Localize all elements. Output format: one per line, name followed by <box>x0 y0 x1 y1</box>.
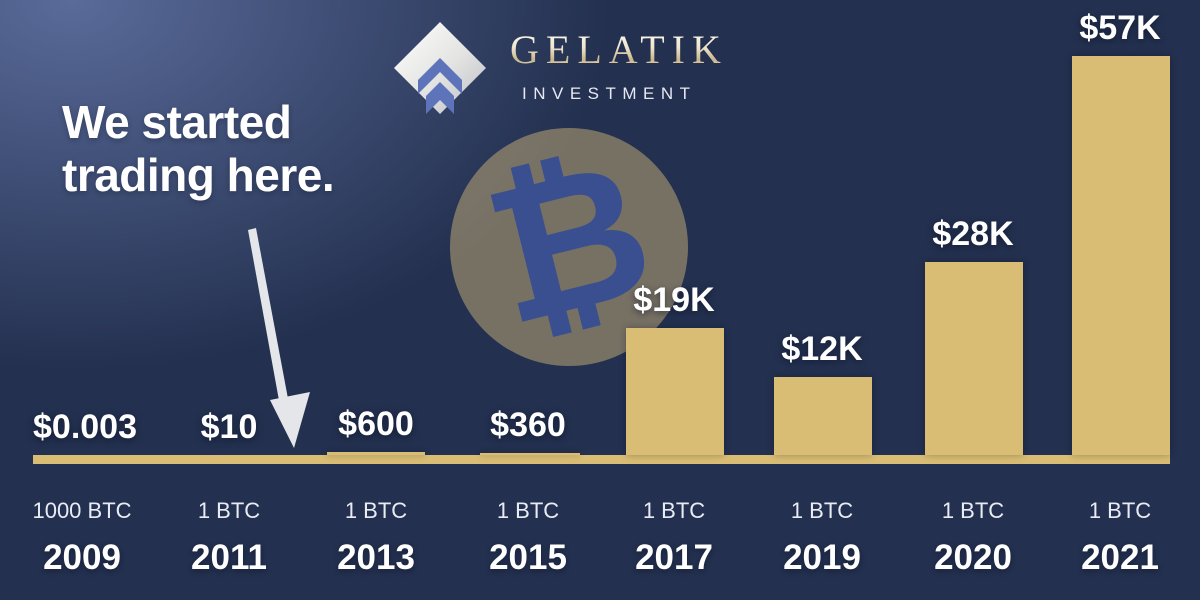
unit-label-2015: 1 BTC <box>457 498 599 524</box>
bar-2021 <box>1072 56 1170 455</box>
down-arrow-annotation-icon <box>232 222 322 454</box>
unit-label-2017: 1 BTC <box>603 498 745 524</box>
unit-label-2019: 1 BTC <box>751 498 893 524</box>
value-label-2013: $600 <box>327 405 425 444</box>
value-label-2015: $360 <box>477 406 579 445</box>
value-label-2017: $19K <box>623 281 725 320</box>
year-label-2013: 2013 <box>307 538 445 578</box>
bar-2015 <box>480 453 580 455</box>
bitcoin-price-infographic: ₿ GELATIK INVESTMENT We started tr <box>0 0 1200 600</box>
year-label-2017: 2017 <box>603 538 745 578</box>
year-label-2020: 2020 <box>902 538 1044 578</box>
value-label-2009: $0.003 <box>33 408 131 447</box>
value-label-2021: $57K <box>1069 9 1171 48</box>
bar-2020 <box>925 262 1023 455</box>
bar-2019 <box>774 377 872 455</box>
year-label-2019: 2019 <box>751 538 893 578</box>
year-label-2015: 2015 <box>457 538 599 578</box>
bar-2017 <box>626 328 724 455</box>
unit-label-2020: 1 BTC <box>902 498 1044 524</box>
unit-label-2013: 1 BTC <box>307 498 445 524</box>
unit-label-2009: 1000 BTC <box>13 498 151 524</box>
value-label-2020: $28K <box>922 215 1024 254</box>
year-label-2011: 2011 <box>160 538 298 578</box>
value-label-2019: $12K <box>771 330 873 369</box>
year-label-2009: 2009 <box>13 538 151 578</box>
unit-label-2021: 1 BTC <box>1049 498 1191 524</box>
unit-label-2011: 1 BTC <box>160 498 298 524</box>
bar-2013 <box>327 452 425 455</box>
year-label-2021: 2021 <box>1049 538 1191 578</box>
bar-chart: $0.003$10$600$360$19K$12K$28K$57K 1000 B… <box>0 0 1200 600</box>
chart-baseline <box>33 455 1170 464</box>
